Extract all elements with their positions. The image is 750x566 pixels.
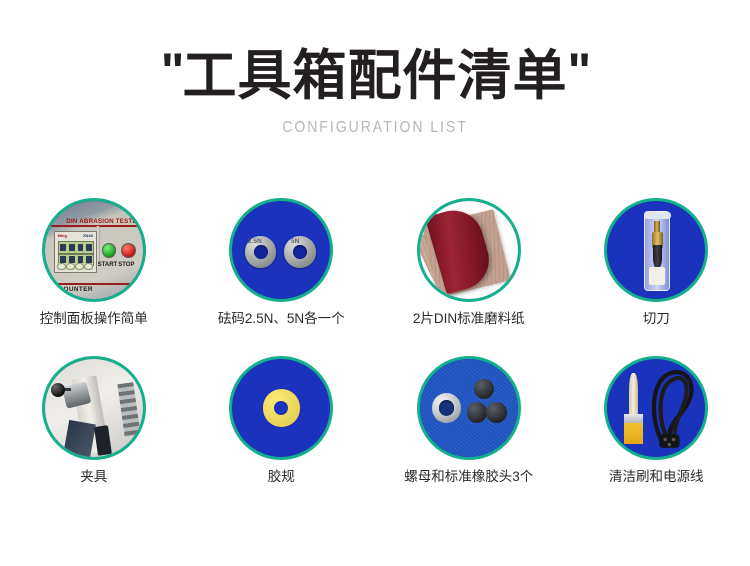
- grid-row-1: DIN ABRASION TESTER Ming ZN48 START STOP: [0, 198, 750, 356]
- caption-abrasive-paper: 2片DIN标准磨料纸: [413, 311, 525, 327]
- weights-photo: 2.5N 5N: [229, 198, 333, 302]
- abrasive-paper-photo: [417, 198, 521, 302]
- start-button-label: START: [98, 262, 118, 268]
- digital-counter: Ming ZN48: [54, 231, 97, 272]
- grid-row-2: 夹具 胶规 螺母和标准橡胶头3个: [0, 356, 750, 514]
- rubber-gauge-photo: [229, 356, 333, 460]
- caption-brush-power-cord: 清洁刷和电源线: [609, 469, 704, 485]
- nut-rubber-heads-image: [420, 359, 518, 457]
- cutter-foam-pad: [649, 267, 665, 286]
- brush-power-cord-photo: [604, 356, 708, 460]
- brush-power-cord-image: [607, 359, 705, 457]
- grid-item-clamp: 夹具: [0, 356, 188, 514]
- page-subtitle: CONFIGURATION LIST: [45, 119, 705, 137]
- panel-red-line-top: [49, 225, 139, 227]
- metal-nut-icon: [432, 393, 461, 422]
- page-header: "工具箱配件清单" CONFIGURATION LIST: [0, 0, 750, 137]
- weight-5n-label: 5N: [291, 238, 299, 245]
- brush-bristles: [624, 423, 643, 445]
- title-open-quote: ": [161, 43, 183, 99]
- cutter-image: [607, 201, 705, 299]
- panel-red-line-bottom: [49, 283, 139, 285]
- grid-item-cutter: 切刀: [563, 198, 750, 356]
- control-panel-image: DIN ABRASION TESTER Ming ZN48 START STOP: [45, 201, 143, 299]
- stop-button-icon[interactable]: [121, 243, 136, 258]
- rubber-gauge-image: [232, 359, 330, 457]
- stop-button-label: STOP: [118, 262, 134, 268]
- caption-clamp: 夹具: [80, 469, 107, 485]
- title-close-quote: ": [568, 43, 590, 99]
- weight-5n-icon: [284, 236, 315, 267]
- brush-handle: [629, 373, 638, 418]
- clamp-image: [45, 359, 143, 457]
- tube-cap: [644, 212, 671, 219]
- caption-rubber-gauge: 胶规: [268, 469, 295, 485]
- yellow-ring-gauge-icon: [263, 389, 300, 426]
- weight-2-5n-label: 2.5N: [248, 238, 262, 245]
- cutter-tube: [644, 211, 670, 291]
- grid-item-weights: 2.5N 5N 砝码2.5N、5N各一个: [188, 198, 376, 356]
- caption-nut-rubber-heads: 螺母和标准橡胶头3个: [404, 469, 533, 485]
- grid-item-control-panel: DIN ABRASION TESTER Ming ZN48 START STOP: [0, 198, 188, 356]
- grid-item-brush-power-cord: 清洁刷和电源线: [563, 356, 750, 514]
- power-cord-icon: [648, 367, 701, 451]
- panel-title-label: DIN ABRASION TESTER: [66, 218, 141, 225]
- clamp-photo: [42, 356, 146, 460]
- title-text: 工具箱配件清单: [183, 46, 568, 106]
- nut-rubber-heads-photo: [417, 356, 521, 460]
- caption-control-panel: 控制面板操作简单: [40, 311, 148, 327]
- counter-button-row[interactable]: [57, 263, 93, 270]
- weights-image: 2.5N 5N: [232, 201, 330, 299]
- counter-brand-right: ZN48: [83, 233, 93, 238]
- cutter-blade: [653, 245, 662, 269]
- rubber-head-2-icon: [467, 402, 488, 423]
- configuration-grid: DIN ABRASION TESTER Ming ZN48 START STOP: [0, 198, 750, 514]
- abrasive-paper-image: [420, 201, 518, 299]
- cutter-photo: [604, 198, 708, 302]
- start-button-icon[interactable]: [102, 243, 117, 258]
- counter-brand-left: Ming: [58, 233, 67, 238]
- counter-display-upper: [58, 241, 95, 253]
- grid-item-rubber-gauge: 胶规: [188, 356, 376, 514]
- grid-item-abrasive-paper: 2片DIN标准磨料纸: [375, 198, 563, 356]
- page-title: "工具箱配件清单": [0, 48, 750, 105]
- caption-weights: 砝码2.5N、5N各一个: [218, 311, 345, 327]
- grid-item-nut-rubber-heads: 螺母和标准橡胶头3个: [375, 356, 563, 514]
- caption-cutter: 切刀: [643, 311, 670, 327]
- control-panel-photo: DIN ABRASION TESTER Ming ZN48 START STOP: [42, 198, 146, 302]
- rubber-head-3-icon: [486, 402, 507, 423]
- panel-counter-label: COUNTER: [58, 286, 92, 293]
